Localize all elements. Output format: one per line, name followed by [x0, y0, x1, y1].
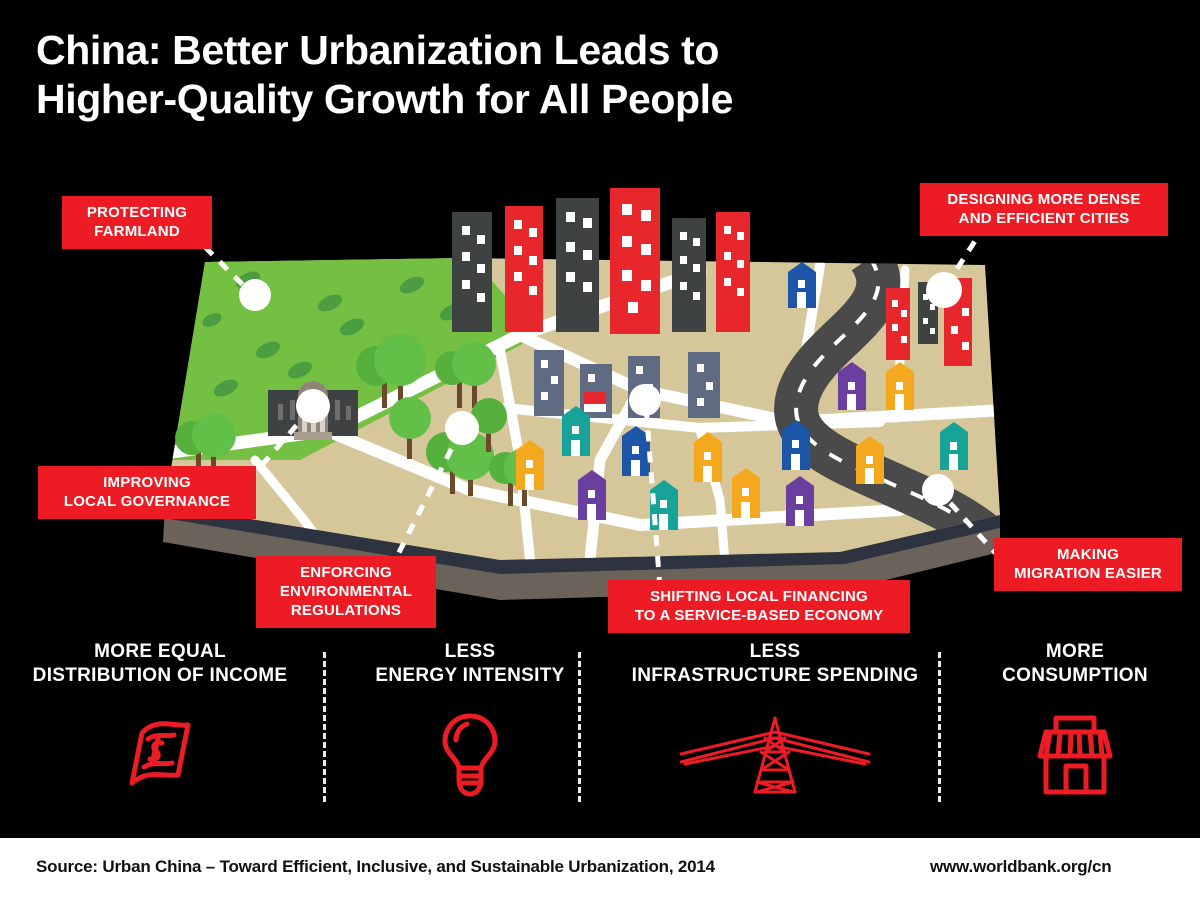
callout-environmental-regulations[interactable]: ENFORCING ENVIRONMENTAL REGULATIONS	[256, 556, 436, 628]
map-marker-migration	[922, 474, 954, 506]
outcome-income-label: MORE EQUAL DISTRIBUTION OF INCOME	[10, 640, 310, 688]
house	[838, 362, 866, 410]
page-title-line-1: China: Better Urbanization Leads to	[36, 26, 1036, 75]
lightbulb-icon	[345, 710, 595, 800]
midrise-building	[534, 350, 564, 416]
corner-building	[886, 288, 910, 360]
outcome-energy-label: LESS ENERGY INTENSITY	[345, 640, 595, 688]
house	[732, 468, 760, 518]
callout-designing-cities[interactable]: DESIGNING MORE DENSE AND EFFICIENT CITIE…	[920, 183, 1168, 236]
outcome-consumption-label: MORE CONSUMPTION	[960, 640, 1190, 688]
outcome-income: MORE EQUAL DISTRIBUTION OF INCOME	[10, 640, 310, 800]
storefront-icon	[960, 710, 1190, 800]
power-pylon-icon	[620, 710, 930, 800]
footer-source: Source: Urban China – Toward Efficient, …	[36, 857, 715, 877]
outcome-infrastructure-label: LESS INFRASTRUCTURE SPENDING	[620, 640, 930, 688]
callout-making-migration-easier[interactable]: MAKING MIGRATION EASIER	[994, 538, 1182, 591]
house	[886, 362, 914, 410]
callout-local-financing[interactable]: SHIFTING LOCAL FINANCING TO A SERVICE-BA…	[608, 580, 910, 633]
house	[856, 436, 884, 484]
outcomes-strip: MORE EQUAL DISTRIBUTION OF INCOME LESS E…	[0, 640, 1200, 830]
infographic-page: China: Better Urbanization Leads to High…	[0, 0, 1200, 900]
midrise-building	[688, 352, 720, 418]
house	[562, 406, 590, 456]
outcome-divider	[938, 652, 941, 802]
footer-url[interactable]: www.worldbank.org/cn	[930, 857, 1111, 877]
skyscraper	[505, 206, 543, 332]
house	[782, 420, 810, 470]
page-title: China: Better Urbanization Leads to High…	[36, 26, 1036, 124]
skyscraper	[556, 198, 599, 332]
house	[516, 440, 544, 490]
midrise-building	[580, 364, 612, 418]
footer-bar: Source: Urban China – Toward Efficient, …	[0, 838, 1200, 900]
outcome-divider	[323, 652, 326, 802]
house	[694, 432, 722, 482]
outcome-consumption: MORE CONSUMPTION	[960, 640, 1190, 800]
house	[578, 470, 606, 520]
map-marker-cities	[926, 272, 962, 308]
skyscraper	[672, 218, 706, 332]
banknote-icon	[10, 710, 310, 800]
callout-protecting-farmland[interactable]: PROTECTING FARMLAND	[62, 196, 212, 249]
page-title-line-2: Higher-Quality Growth for All People	[36, 75, 1036, 124]
map-marker-farmland	[239, 279, 271, 311]
map-marker-environment	[445, 411, 479, 445]
skyscraper	[610, 188, 660, 334]
outcome-energy: LESS ENERGY INTENSITY	[345, 640, 595, 800]
map-marker-governance	[296, 389, 330, 423]
skyscraper	[452, 212, 492, 332]
house	[940, 422, 968, 470]
callout-local-governance[interactable]: IMPROVING LOCAL GOVERNANCE	[38, 466, 256, 519]
outcome-infrastructure: LESS INFRASTRUCTURE SPENDING	[620, 640, 930, 800]
house	[786, 476, 814, 526]
skyscraper	[716, 212, 750, 332]
